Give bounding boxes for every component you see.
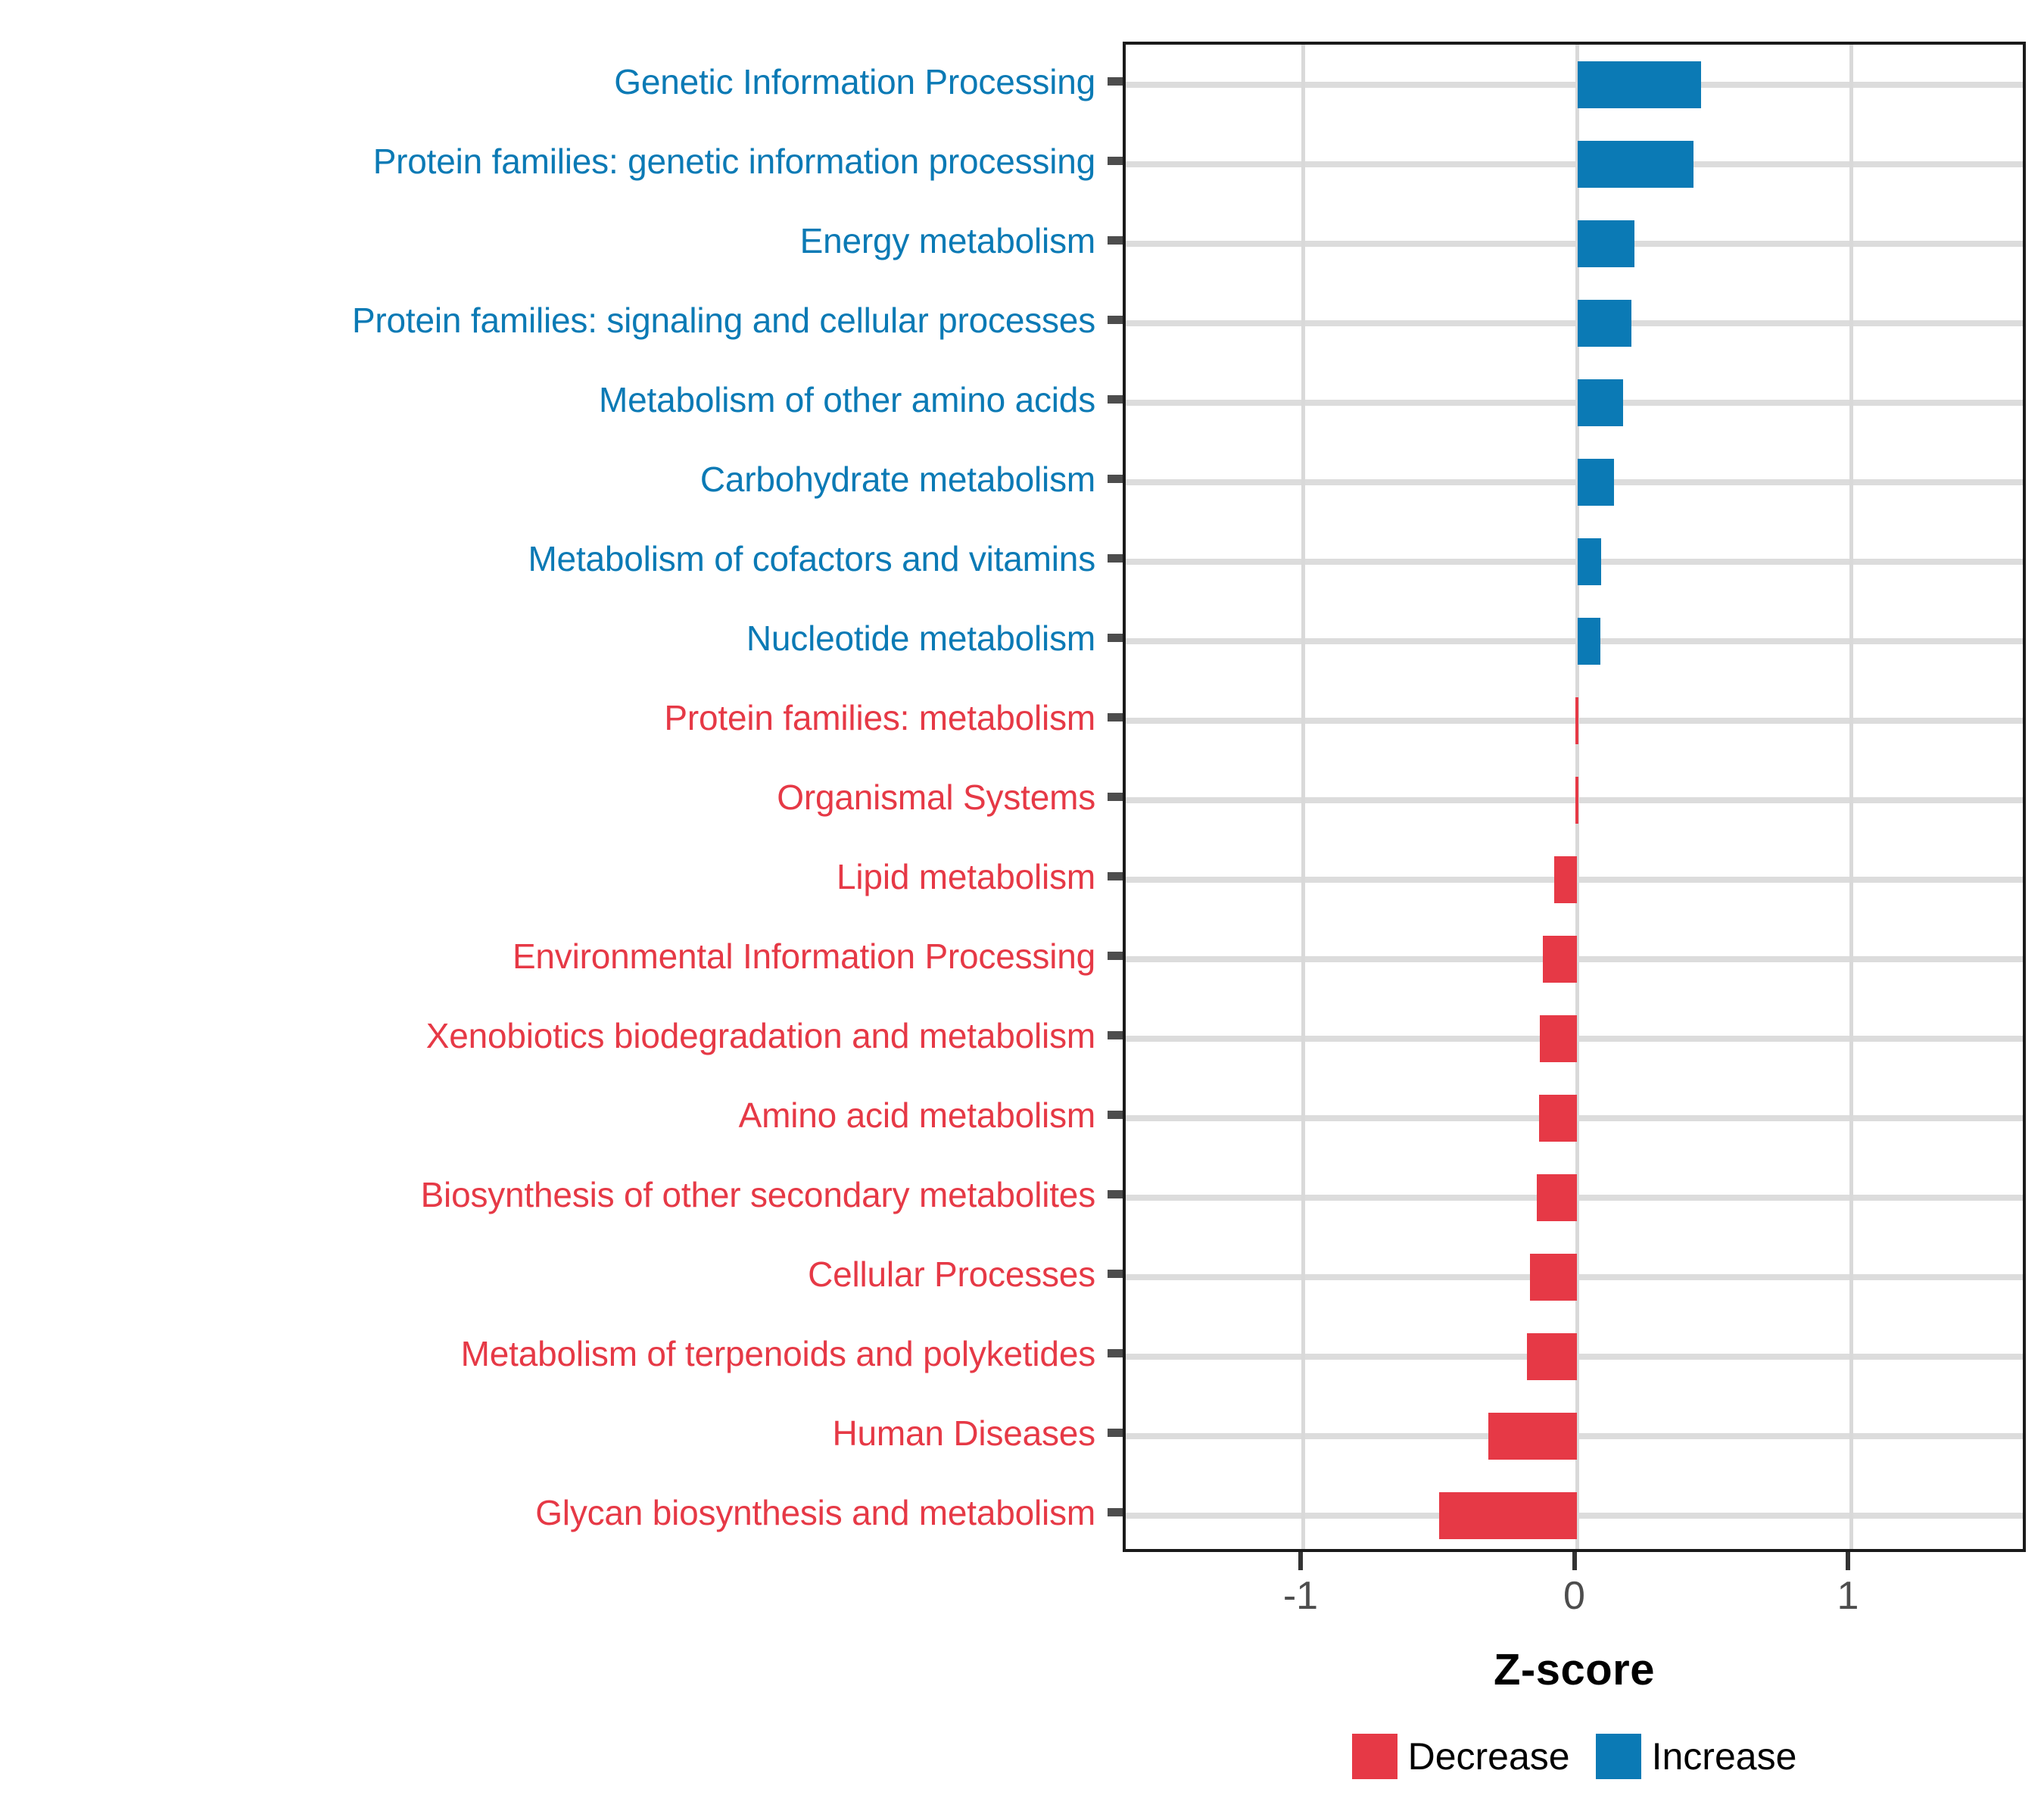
y-axis-category-label: Metabolism of terpenoids and polyketides	[461, 1336, 1095, 1371]
bar	[1575, 777, 1578, 824]
bar	[1578, 300, 1632, 347]
y-axis-category-label: Protein families: genetic information pr…	[373, 144, 1095, 179]
y-axis-category-label: Metabolism of cofactors and vitamins	[528, 541, 1095, 576]
y-axis-tick	[1108, 1270, 1123, 1278]
horizontal-gridline	[1126, 638, 2023, 644]
y-axis-tick	[1108, 554, 1123, 563]
y-axis-tick	[1108, 1349, 1123, 1357]
bar	[1527, 1333, 1578, 1380]
y-axis-category-label: Environmental Information Processing	[513, 939, 1095, 974]
x-axis-title: Z-score	[1123, 1644, 2026, 1695]
y-axis-category-label: Protein families: signaling and cellular…	[352, 303, 1095, 338]
chart-legend: DecreaseIncrease	[1123, 1734, 2026, 1779]
bar	[1554, 856, 1577, 903]
vertical-gridline	[1849, 45, 1853, 1549]
y-axis-category-label: Carbohydrate metabolism	[700, 462, 1095, 497]
x-axis-tick-label: 0	[1563, 1576, 1585, 1616]
horizontal-gridline	[1126, 161, 2023, 167]
legend-item[interactable]: Decrease	[1352, 1734, 1570, 1779]
bar	[1540, 1015, 1578, 1062]
y-axis-tick	[1108, 634, 1123, 642]
x-axis-tick-label: 1	[1837, 1576, 1859, 1616]
y-axis-tick	[1108, 1429, 1123, 1437]
bar	[1488, 1413, 1578, 1460]
chart-figure: Genetic Information ProcessingProtein fa…	[0, 0, 2044, 1817]
legend-swatch-icon	[1596, 1734, 1641, 1779]
legend-label: Decrease	[1408, 1738, 1570, 1775]
y-axis-tick	[1108, 77, 1123, 86]
y-axis-category-label: Energy metabolism	[800, 223, 1095, 258]
bar	[1578, 61, 1702, 108]
y-axis-category-label: Biosynthesis of other secondary metaboli…	[421, 1177, 1095, 1212]
y-axis-category-label: Organismal Systems	[777, 780, 1095, 815]
y-axis-tick	[1108, 1031, 1123, 1039]
bar	[1575, 697, 1578, 744]
y-axis-category-label: Lipid metabolism	[837, 859, 1095, 894]
horizontal-gridline	[1126, 718, 2023, 724]
bar	[1578, 220, 1635, 267]
y-axis-tick	[1108, 316, 1123, 324]
horizontal-gridline	[1126, 479, 2023, 485]
y-axis-tick	[1108, 1190, 1123, 1198]
bar	[1539, 1095, 1578, 1142]
x-axis-tick	[1846, 1552, 1850, 1570]
bar	[1530, 1254, 1578, 1301]
y-axis-category-label: Amino acid metabolism	[739, 1098, 1095, 1133]
horizontal-gridline	[1126, 797, 2023, 803]
y-axis-tick	[1108, 236, 1123, 245]
x-axis-tick-label: -1	[1283, 1576, 1318, 1616]
horizontal-gridline	[1126, 559, 2023, 565]
y-axis-tick	[1108, 395, 1123, 404]
y-axis-category-label: Nucleotide metabolism	[746, 621, 1095, 656]
y-axis-labels: Genetic Information ProcessingProtein fa…	[0, 42, 1123, 1552]
y-axis-tick	[1108, 1508, 1123, 1516]
bar	[1578, 618, 1601, 665]
bar	[1537, 1174, 1578, 1221]
y-axis-category-label: Xenobiotics biodegradation and metabolis…	[426, 1018, 1095, 1053]
legend-label: Increase	[1652, 1738, 1797, 1775]
bar	[1578, 538, 1602, 585]
bar	[1578, 379, 1623, 426]
bar	[1543, 936, 1578, 983]
y-axis-tick	[1108, 713, 1123, 722]
y-axis-category-label: Protein families: metabolism	[664, 700, 1095, 735]
y-axis-category-label: Cellular Processes	[808, 1257, 1095, 1292]
horizontal-gridline	[1126, 320, 2023, 326]
y-axis-tick	[1108, 157, 1123, 165]
horizontal-gridline	[1126, 82, 2023, 88]
vertical-gridline	[1301, 45, 1305, 1549]
y-axis-category-label: Glycan biosynthesis and metabolism	[535, 1495, 1095, 1530]
y-axis-category-label: Genetic Information Processing	[614, 64, 1095, 99]
bar	[1578, 459, 1615, 506]
x-axis-tick	[1298, 1552, 1303, 1570]
y-axis-category-label: Metabolism of other amino acids	[599, 382, 1095, 417]
legend-item[interactable]: Increase	[1596, 1734, 1797, 1779]
legend-swatch-icon	[1352, 1734, 1397, 1779]
plot-panel	[1123, 42, 2026, 1552]
y-axis-tick	[1108, 475, 1123, 483]
bar	[1578, 141, 1694, 188]
y-axis-tick	[1108, 793, 1123, 801]
bar	[1439, 1492, 1578, 1539]
horizontal-gridline	[1126, 400, 2023, 406]
horizontal-gridline	[1126, 241, 2023, 247]
y-axis-category-label: Human Diseases	[833, 1416, 1095, 1451]
y-axis-tick	[1108, 952, 1123, 960]
y-axis-tick	[1108, 1111, 1123, 1119]
y-axis-tick	[1108, 872, 1123, 880]
x-axis-tick	[1572, 1552, 1577, 1570]
